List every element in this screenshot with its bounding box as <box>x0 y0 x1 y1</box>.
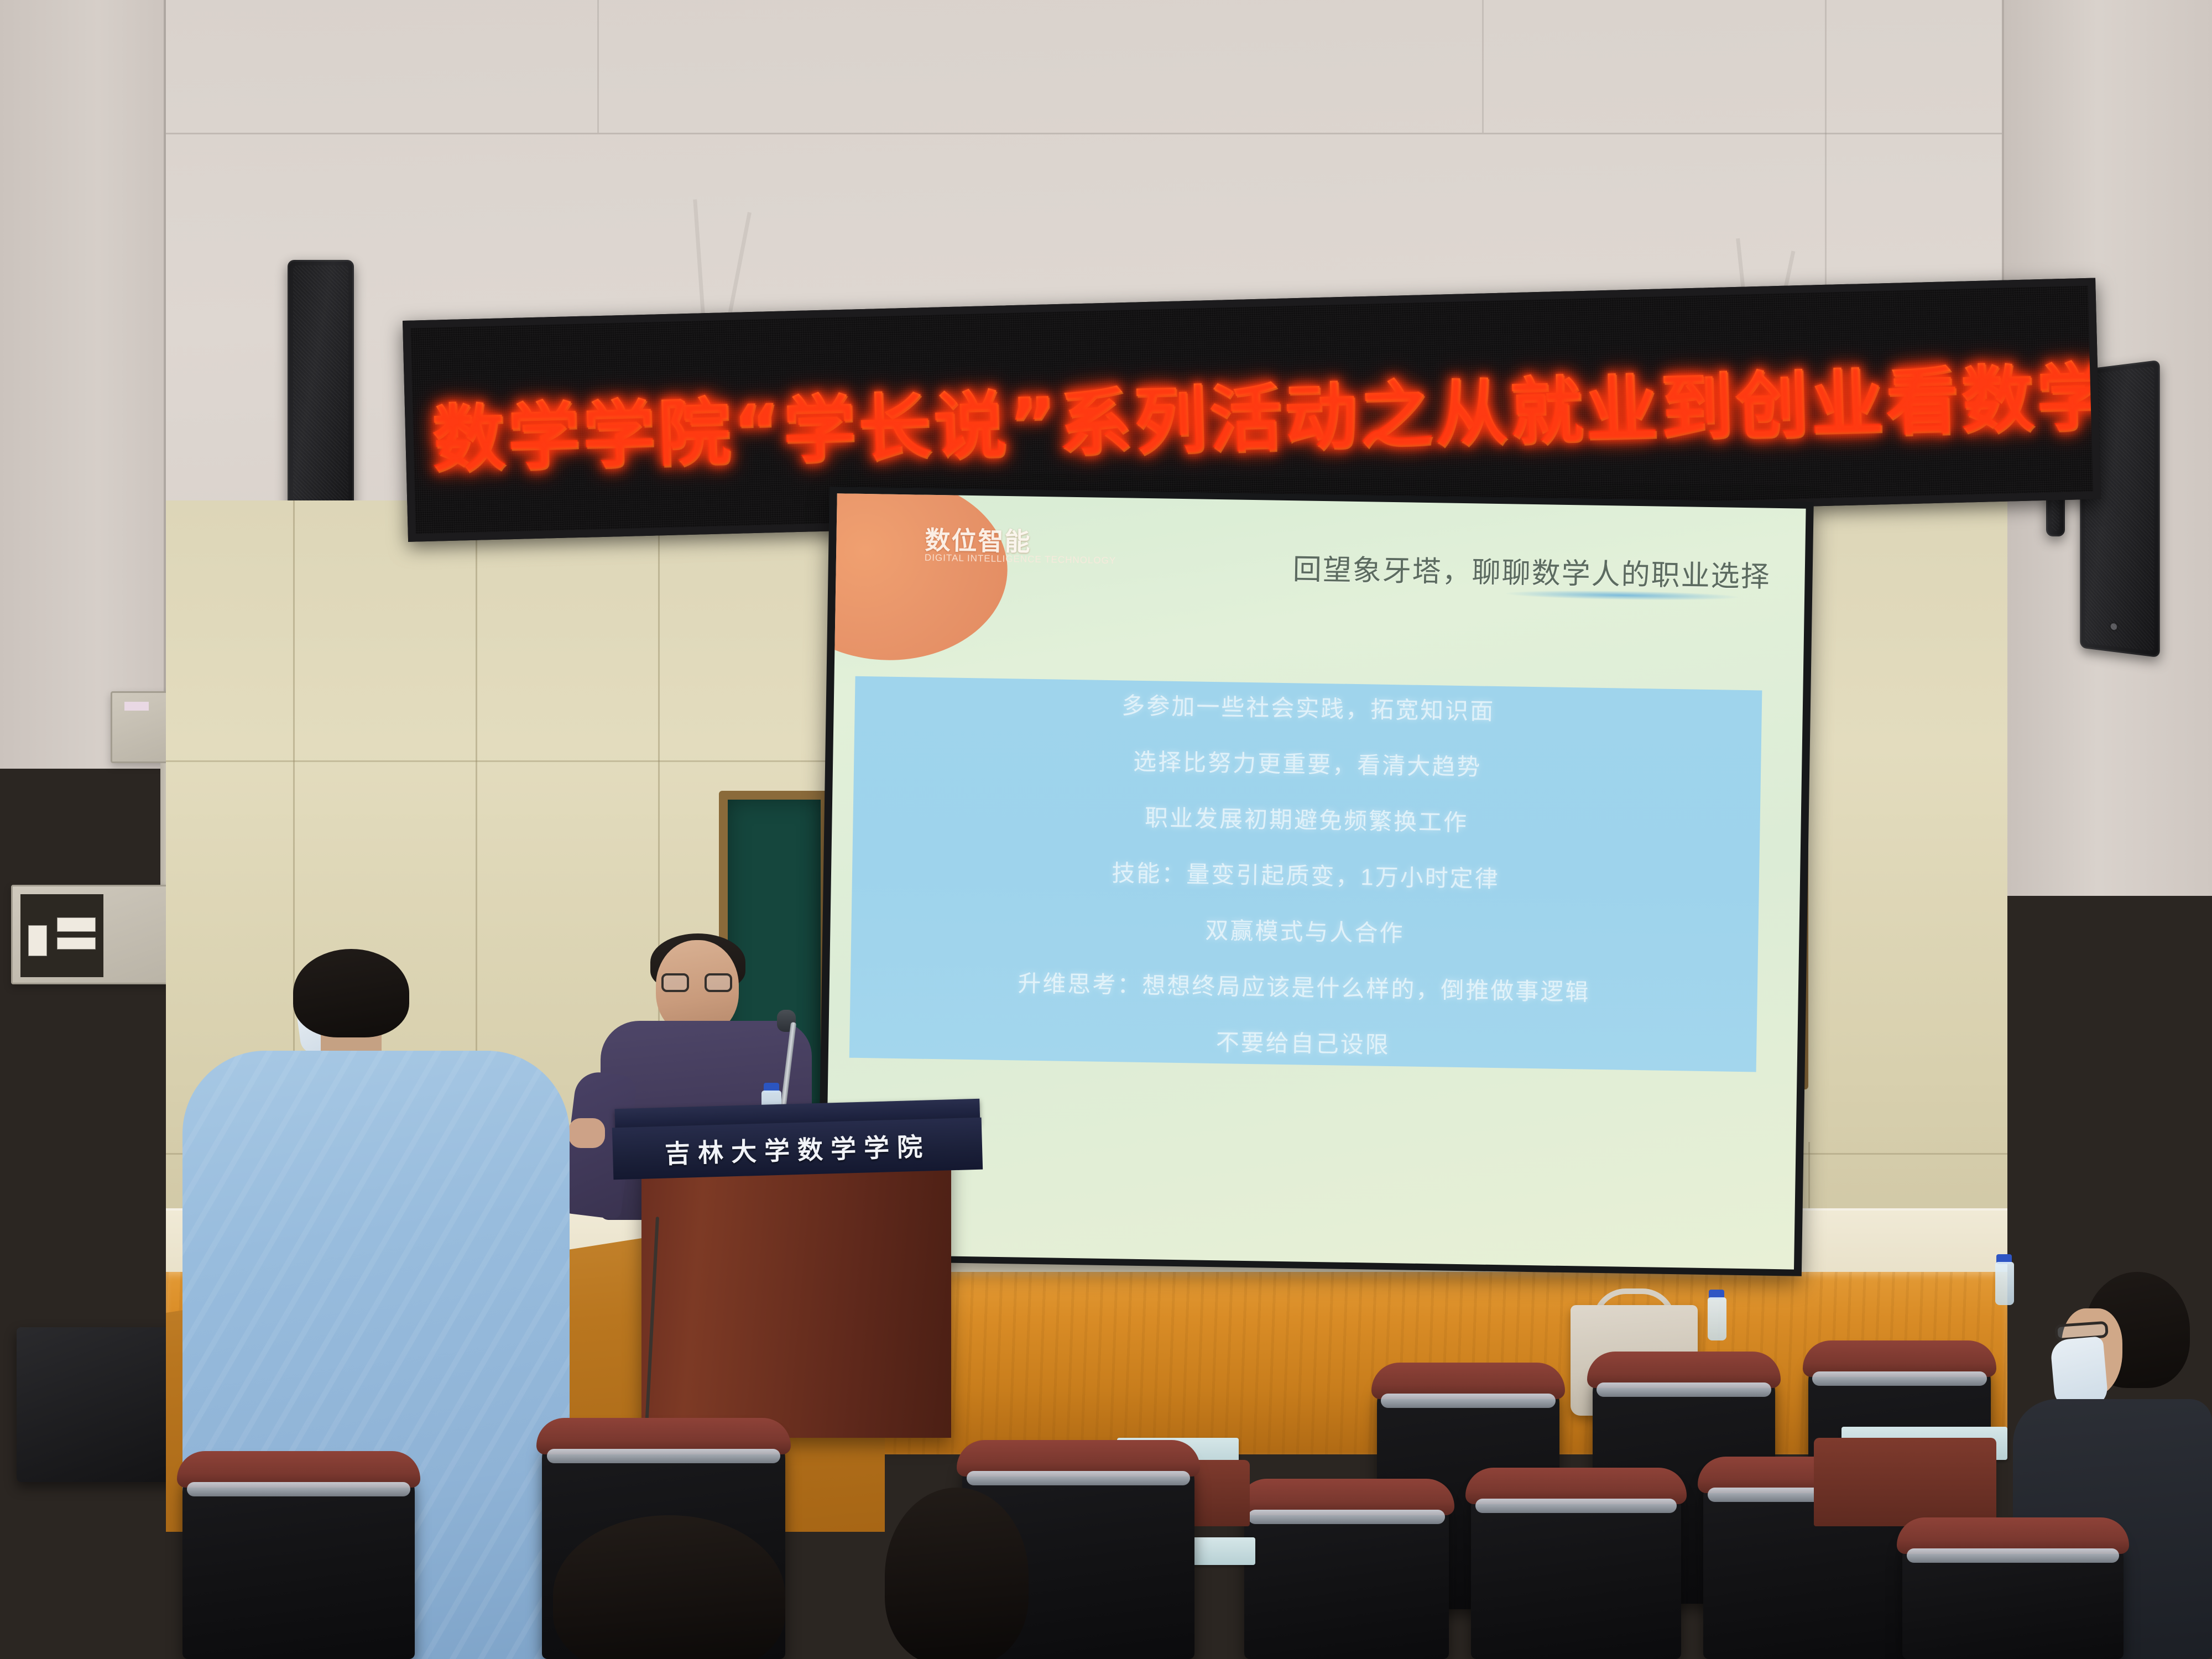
wall-seam-vertical <box>597 0 599 133</box>
terminal-strip <box>57 937 96 950</box>
led-banner-text: 数学学院“学长说”系列活动之从就业到创业看数学人的自我储备和实践 <box>431 339 2086 487</box>
wall-speaker-left <box>288 260 354 536</box>
slide-body-panel: 多参加一些社会实践，拓宽知识面 选择比努力更重要，看清大趋势 职业发展初期避免频… <box>849 676 1762 1072</box>
seat-armrest <box>1814 1438 1996 1526</box>
slide-bullet-line: 双赢模式与人合作 <box>1205 911 1405 948</box>
slide-bullet-line: 多参加一些社会实践，拓宽知识面 <box>1121 687 1495 727</box>
seat-band <box>1597 1383 1772 1397</box>
electrical-box-label <box>124 702 149 711</box>
seat-band <box>1907 1548 2119 1563</box>
circuit-breaker <box>28 925 47 956</box>
slide-bullet-line: 职业发展初期避免频繁换工作 <box>1145 799 1469 838</box>
electrical-panel <box>11 885 188 984</box>
seat-band <box>547 1449 780 1463</box>
slide-bullet-line: 技能：量变引起质变，1万小时定律 <box>1112 854 1500 894</box>
water-bottle <box>1995 1262 2014 1305</box>
audience-head <box>885 1488 1029 1659</box>
water-bottle <box>1708 1297 1726 1340</box>
auditorium-seat[interactable] <box>1244 1488 1449 1659</box>
seat-band <box>187 1482 410 1496</box>
auditorium-seat[interactable] <box>1471 1477 1681 1659</box>
lecture-hall-scene: 数学学院“学长说”系列活动之从就业到创业看数学人的自我储备和实践 数位智能 DI… <box>0 0 2212 1659</box>
auditorium-seat[interactable] <box>1902 1526 2124 1659</box>
glasses-lens-right <box>705 973 732 992</box>
left-pillar <box>0 0 166 769</box>
seat-band <box>1248 1510 1444 1524</box>
glasses-icon <box>661 973 732 992</box>
slide-logo-badge <box>825 493 1009 662</box>
auditorium-seat[interactable] <box>182 1460 415 1659</box>
wall-seam-vertical <box>1482 0 1484 133</box>
slide-bullet-line: 选择比努力更重要，看清大趋势 <box>1133 743 1482 782</box>
slide-bullet-line: 升维思考：想想终局应该是什么样的，倒推做事逻辑 <box>1018 964 1590 1007</box>
slide-bullet-line: 不要给自己设限 <box>1215 1024 1390 1060</box>
terminal-strip <box>57 917 96 932</box>
slide-title: 回望象牙塔，聊聊数学人的职业选择 <box>1292 546 1771 595</box>
seat-band <box>1812 1371 1987 1386</box>
glasses-lens-left <box>661 973 689 992</box>
seat-band <box>1381 1394 1556 1408</box>
seat-band <box>1475 1499 1677 1513</box>
podium-label: 吉林大学数学学院 <box>664 1126 931 1170</box>
floor-subwoofer <box>17 1327 182 1482</box>
wall-seam-vertical <box>1825 0 1827 332</box>
wall-seam <box>166 133 2007 134</box>
podium-nameplate: 吉林大学数学学院 <box>612 1118 983 1180</box>
seat-band <box>967 1471 1190 1485</box>
presenter-hand <box>568 1118 605 1148</box>
speaker-indicator-led <box>2111 623 2117 630</box>
podium: 吉林大学数学学院 <box>641 1123 951 1438</box>
standing-student-hair <box>293 949 409 1037</box>
